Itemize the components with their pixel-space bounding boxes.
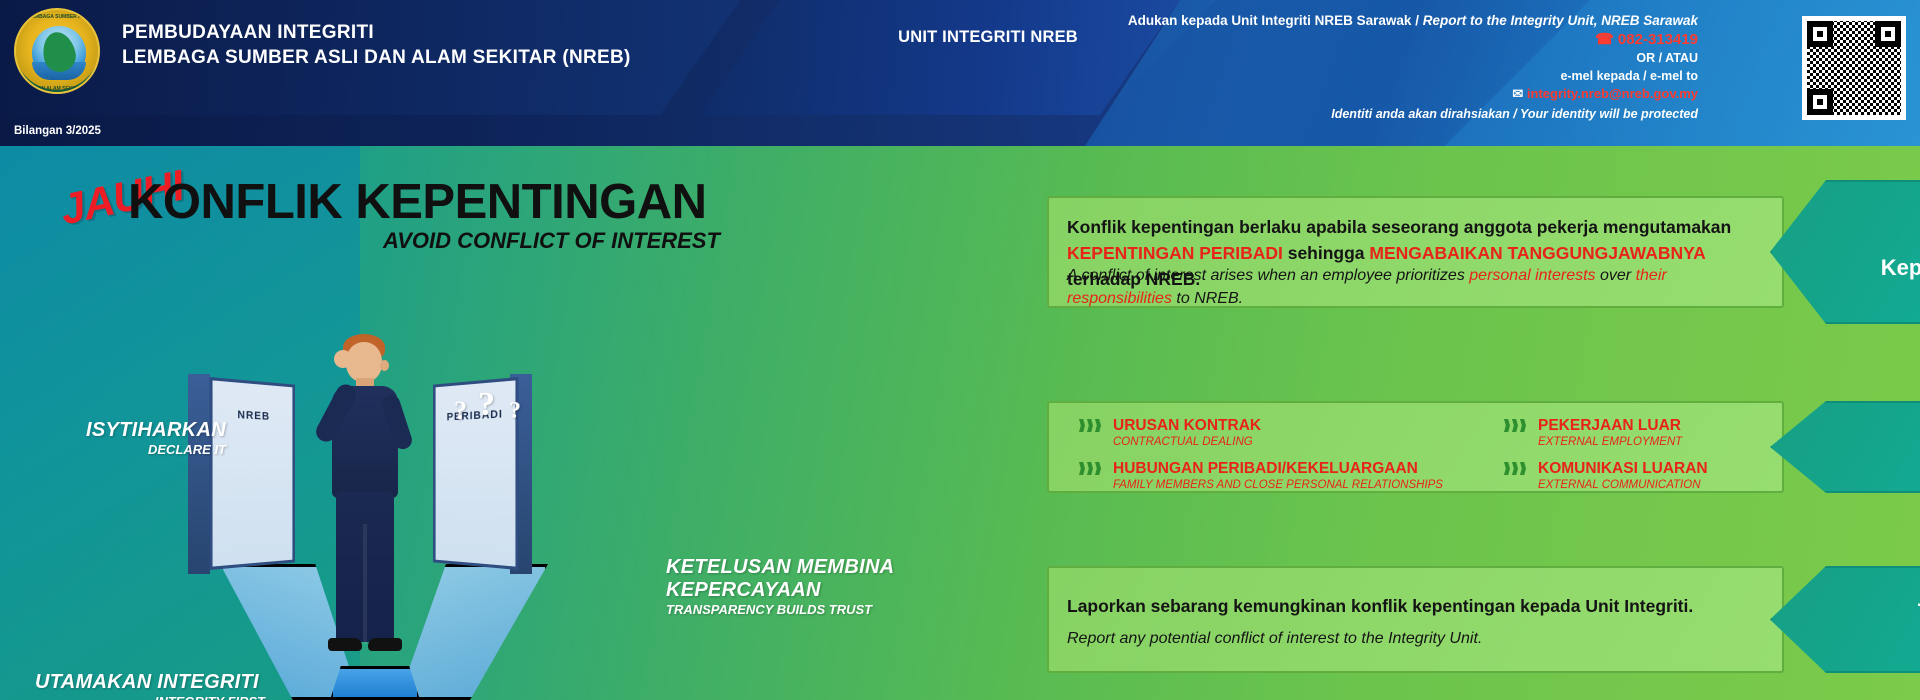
tab-example-my: CONTOH xyxy=(1772,425,1920,452)
header-or-line: OR / ATAU xyxy=(928,49,1698,67)
qr-eye-bottom-left xyxy=(1807,89,1833,115)
header-issue-number: Bilangan 3/2025 xyxy=(14,125,101,137)
header-org-title: PEMBUDAYAAN INTEGRITI LEMBAGA SUMBER ASL… xyxy=(122,20,631,70)
door-nreb: NREB xyxy=(210,377,295,570)
tab-definition: Definisi Konflik Kepentingan Definition … xyxy=(1770,180,1920,324)
panel-definition: Konflik kepentingan berlaku apabila sese… xyxy=(1047,196,1784,308)
header-contact-block: Adukan kepada Unit Integriti NREB Sarawa… xyxy=(928,12,1698,123)
example-my: KOMUNIKASI LUARAN xyxy=(1538,459,1784,478)
header-privacy-note: Identiti anda akan dirahsiakan / Your id… xyxy=(928,105,1698,123)
example-my: HUBUNGAN PERIBADI/KEKELUARGAAN xyxy=(1113,459,1499,478)
qr-code-pattern xyxy=(1807,21,1901,115)
callout-trust-my-line2: KEPERCAYAAN xyxy=(666,579,926,602)
tab-definition-my-line1: Definisi xyxy=(1772,200,1920,227)
header-email-label: e-mel kepada / e-mel to xyxy=(928,67,1698,85)
door-peribadi-label: PERIBADI xyxy=(436,407,516,423)
triple-arrow-icon xyxy=(1079,419,1105,432)
callout-integrity: UTAMAKAN INTEGRITI INTEGRITY FIRST xyxy=(35,671,265,700)
definition-my-part1: Konflik kepentingan berlaku apabila sese… xyxy=(1067,217,1731,237)
list-item: URUSAN KONTRAK CONTRACTUAL DEALING xyxy=(1079,416,1499,450)
header-phone-row[interactable]: ☎ 082-313419 xyxy=(928,31,1698,49)
tab-definition-en-line3: interest xyxy=(1772,327,1920,348)
tab-example: CONTOH EXAMPLE xyxy=(1770,401,1920,493)
tab-action: Tindakan Action step xyxy=(1770,566,1920,673)
list-item: PEKERJAAN LUAR EXTERNAL EMPLOYMENT xyxy=(1504,416,1784,450)
definition-my-red2: MENGABAIKAN TANGGUNGJAWABNYA xyxy=(1369,243,1705,263)
callout-trust-my-line1: KETELUSAN MEMBINA xyxy=(666,556,926,579)
example-en: EXTERNAL COMMUNICATION xyxy=(1538,478,1784,493)
tab-action-my: Tindakan xyxy=(1772,598,1920,625)
definition-en-part2: over xyxy=(1596,267,1636,284)
logo-ring-top-text: LEMBAGA SUMBER ASLI xyxy=(29,14,90,20)
example-en: FAMILY MEMBERS AND CLOSE PERSONAL RELATI… xyxy=(1113,478,1499,493)
triple-arrow-icon xyxy=(1504,419,1530,432)
action-text-en: Report any potential conflict of interes… xyxy=(1067,630,1767,648)
qr-eye-core xyxy=(1885,31,1891,37)
callout-integrity-en: INTEGRITY FIRST xyxy=(35,694,265,700)
header-email: integrity.nreb@nreb.gov.my xyxy=(1527,86,1698,101)
example-en: CONTRACTUAL DEALING xyxy=(1113,435,1499,450)
illustration: NREB PERIBADI ? ? ? xyxy=(180,246,600,700)
example-my: PEKERJAAN LUAR xyxy=(1538,416,1784,435)
person-shoe-left xyxy=(328,638,362,651)
callout-declare-my: ISYTIHARKAN xyxy=(86,419,226,442)
person-ear xyxy=(380,360,389,371)
triple-arrow-icon xyxy=(1079,462,1105,475)
example-my: URUSAN KONTRAK xyxy=(1113,416,1499,435)
examples-column-left: URUSAN KONTRAK CONTRACTUAL DEALING HUBUN… xyxy=(1079,416,1499,502)
triple-arrow-icon xyxy=(1504,462,1530,475)
qr-code[interactable] xyxy=(1802,16,1906,120)
header-phone: 082-313419 xyxy=(1618,31,1698,48)
definition-en-red1: personal interests xyxy=(1469,267,1595,284)
callout-integrity-my: UTAMAKAN INTEGRITI xyxy=(35,671,265,694)
qr-eye-core xyxy=(1817,31,1823,37)
header-org-title-line1: PEMBUDAYAAN INTEGRITI xyxy=(122,20,631,45)
hero-title: KONFLIK KEPENTINGAN xyxy=(128,174,707,230)
callout-trust-en: TRANSPARENCY BUILDS TRUST xyxy=(666,602,926,617)
tab-definition-my-line3: Kepentingan xyxy=(1772,254,1920,281)
header-report-en: Report to the Integrity Unit, NREB Saraw… xyxy=(1423,13,1698,28)
question-mark-icon: ? xyxy=(454,396,467,426)
tab-definition-en-line1: Definition of xyxy=(1772,285,1920,306)
tab-definition-en-line2: conflicts of xyxy=(1772,306,1920,327)
poster-body: JAUHI KONFLIK KEPENTINGAN AVOID CONFLICT… xyxy=(0,146,1920,700)
header-email-row[interactable]: ✉ integrity.nreb@nreb.gov.my xyxy=(928,85,1698,103)
person-leg-split xyxy=(363,524,367,644)
definition-text-en: A conflict of interest arises when an em… xyxy=(1067,264,1767,310)
tab-action-en: Action step xyxy=(1772,629,1920,650)
tab-definition-my-line2: Konflik xyxy=(1772,227,1920,254)
envelope-icon: ✉ xyxy=(1512,86,1523,101)
action-text-my: Laporkan sebarang kemungkinan konflik ke… xyxy=(1067,596,1767,617)
definition-my-part2: sehingga xyxy=(1283,243,1370,263)
door-frame-left xyxy=(188,374,210,574)
callout-trust: KETELUSAN MEMBINA KEPERCAYAAN TRANSPAREN… xyxy=(666,556,926,617)
page-header: LEMBAGA SUMBER ASLI DAN ALAM SEKITAR PEM… xyxy=(0,0,1920,146)
callout-declare: ISYTIHARKAN DECLARE IT xyxy=(86,419,226,457)
logo-ring-bottom-text: DAN ALAM SEKITAR xyxy=(34,86,83,92)
qr-eye-top-left xyxy=(1807,21,1833,47)
list-item: HUBUNGAN PERIBADI/KEKELUARGAAN FAMILY ME… xyxy=(1079,459,1499,493)
qr-eye-core xyxy=(1817,99,1823,105)
example-en: EXTERNAL EMPLOYMENT xyxy=(1538,435,1784,450)
qr-eye-top-right xyxy=(1875,21,1901,47)
header-report-line: Adukan kepada Unit Integriti NREB Sarawa… xyxy=(928,12,1698,30)
phone-icon: ☎ xyxy=(1595,31,1614,48)
header-org-title-line2: LEMBAGA SUMBER ASLI DAN ALAM SEKITAR (NR… xyxy=(122,45,631,70)
logo-ring-text: LEMBAGA SUMBER ASLI DAN ALAM SEKITAR xyxy=(16,10,100,94)
person-shoe-right xyxy=(368,638,402,651)
question-mark-icon: ? xyxy=(478,386,495,424)
callout-declare-en: DECLARE IT xyxy=(86,442,226,457)
definition-en-part3: to NREB. xyxy=(1172,290,1243,307)
panel-action: Laporkan sebarang kemungkinan konflik ke… xyxy=(1047,566,1784,673)
tab-example-en: EXAMPLE xyxy=(1772,456,1920,477)
person-figure: ? ? ? xyxy=(306,324,426,676)
list-item: KOMUNIKASI LUARAN EXTERNAL COMMUNICATION xyxy=(1504,459,1784,493)
panel-examples: URUSAN KONTRAK CONTRACTUAL DEALING HUBUN… xyxy=(1047,401,1784,493)
header-report-my: Adukan kepada Unit Integriti NREB Sarawa… xyxy=(1128,13,1423,28)
examples-column-right: PEKERJAAN LUAR EXTERNAL EMPLOYMENT KOMUN… xyxy=(1504,416,1784,502)
nreb-logo: LEMBAGA SUMBER ASLI DAN ALAM SEKITAR xyxy=(14,8,100,94)
definition-my-red1: KEPENTINGAN PERIBADI xyxy=(1067,243,1283,263)
definition-en-part1: A conflict of interest arises when an em… xyxy=(1067,267,1469,284)
door-peribadi: PERIBADI xyxy=(433,377,518,570)
question-mark-icon: ? xyxy=(509,398,521,425)
